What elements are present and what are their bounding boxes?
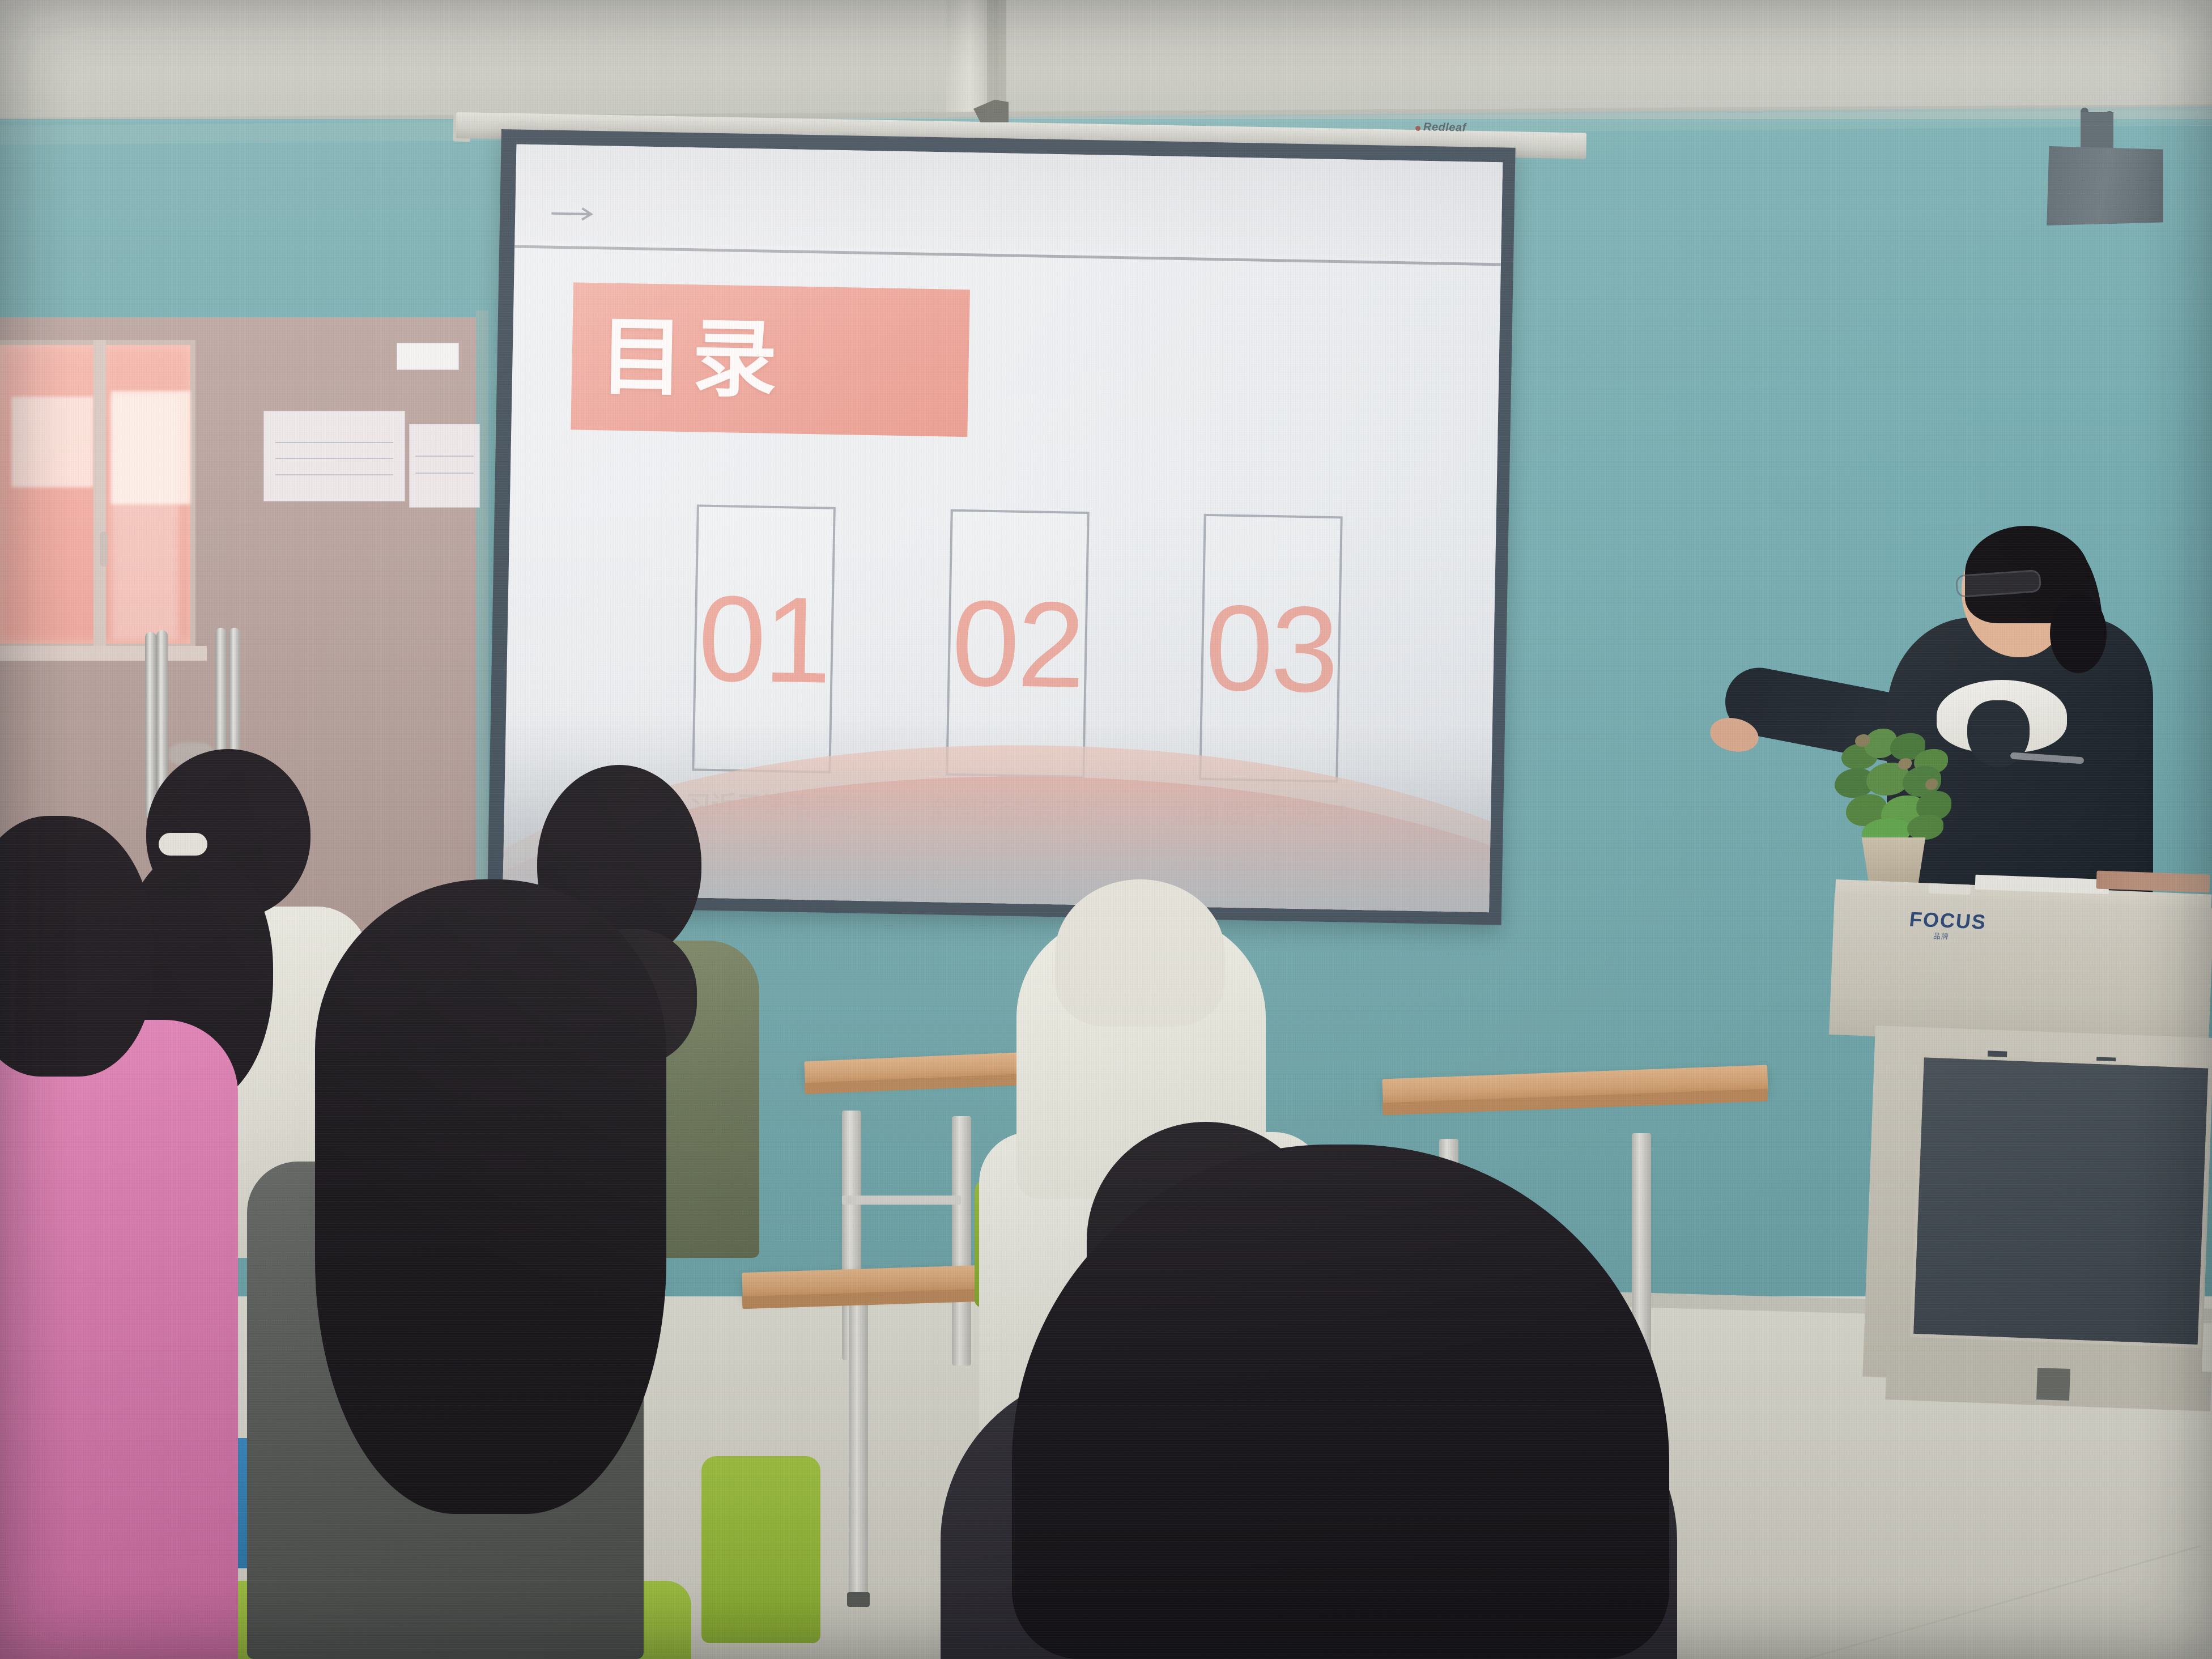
slide-number-box: 01 [692,504,836,773]
door-notice-small [397,343,459,370]
student-pink-sweater [0,1020,238,1659]
podium-brand-sublabel: 品牌 [1933,930,1950,941]
door-window-glow [11,397,93,487]
slide-title-block: 目录 [571,282,970,437]
slide-number-box: 03 [1199,514,1343,782]
desk-rail [842,1196,961,1205]
podium-dark-panel[interactable] [1910,1054,2212,1348]
student-hair [315,879,666,1514]
desk-leg [952,1116,971,1366]
desk-leg [849,1298,868,1598]
door-window-glow [111,397,179,640]
speaker-mount [2081,112,2113,150]
hair-tie [159,833,207,856]
ceiling-post-shadow [987,0,1006,116]
slide-number: 02 [951,581,1084,705]
plant-pot [1857,837,1930,884]
door-window-mullion [93,340,106,649]
door-notice [409,424,480,508]
slide-title: 目录 [598,314,786,402]
door-handle[interactable] [145,632,156,819]
screen-brand-label: Redleaf [1423,121,1466,134]
student-hood-top [1055,879,1225,1027]
door-window-sill [0,646,207,661]
right-arrow-icon [550,206,599,222]
slide-number-box: 02 [946,509,1090,778]
door-notice [263,411,405,501]
podium-foot [2036,1368,2070,1401]
potted-plant [1831,724,1962,846]
slide-number-row: 01 02 03 [692,504,1342,782]
slide-number: 03 [1204,586,1337,710]
desk-foot [847,1592,870,1607]
slide-header-band [514,144,1503,260]
door-window-latch[interactable] [100,531,108,567]
classroom-photo: Redleaf 目录 01 02 [0,0,2212,1659]
slide-number: 01 [697,577,831,701]
teacher-hair-bun [2050,594,2107,673]
wall-speaker [2044,146,2163,226]
chair[interactable] [701,1456,820,1643]
podium-remote[interactable] [1929,883,1971,895]
